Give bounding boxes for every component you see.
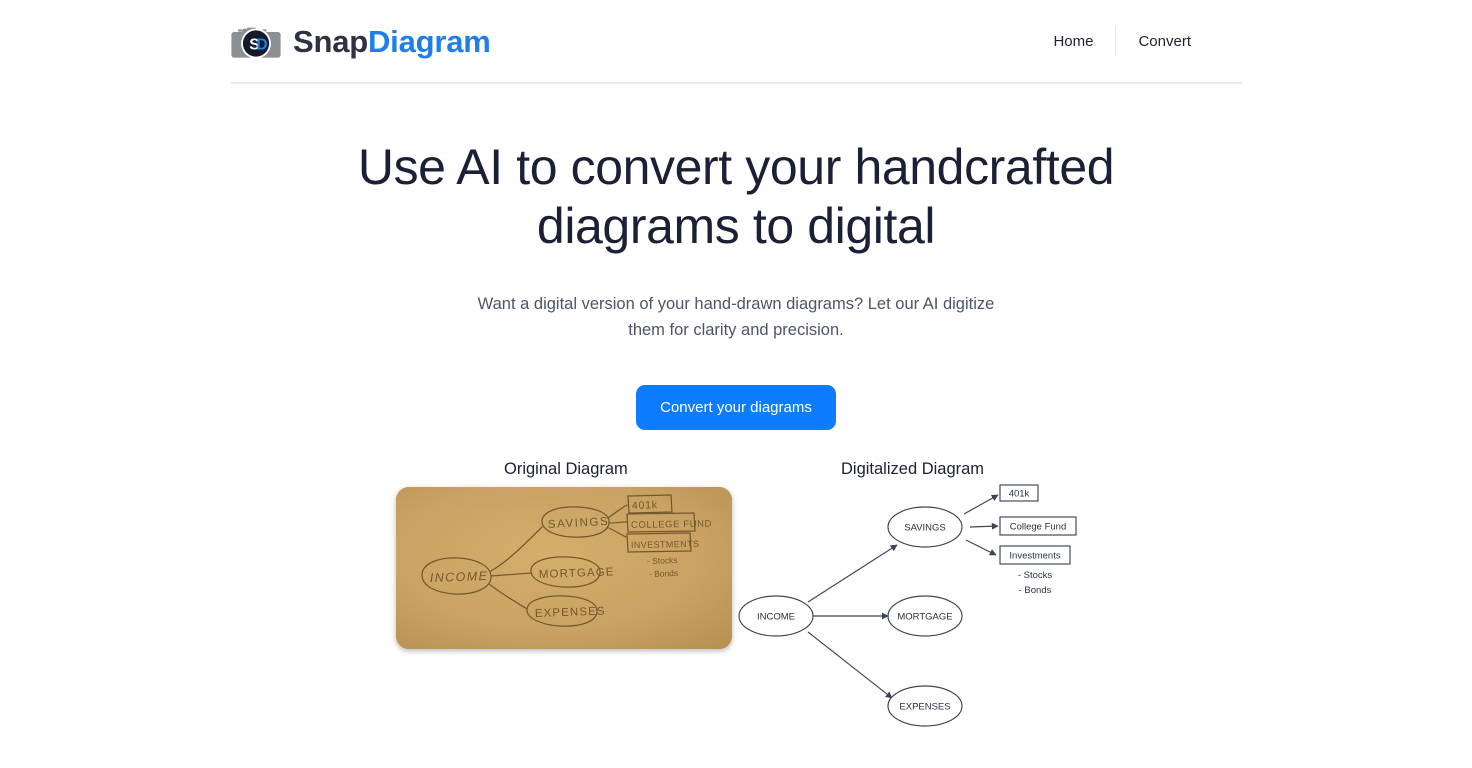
page-subtitle-line-2: them for clarity and precision.	[476, 318, 996, 344]
list-item-stocks: - Stocks	[1018, 570, 1053, 581]
digitalized-diagram-label: Digitalized Diagram	[841, 460, 984, 479]
hero-section: Use AI to convert your handcrafted diagr…	[0, 84, 1472, 430]
nav-item-home[interactable]: Home	[1031, 27, 1115, 56]
photo-label-college-fund: COLLEGE FUND	[631, 519, 712, 531]
page-title: Use AI to convert your handcrafted diagr…	[0, 84, 1472, 256]
nav-item-convert[interactable]: Convert	[1116, 27, 1213, 56]
svg-text:D: D	[256, 36, 267, 53]
box-label-investments: Investments	[1009, 551, 1060, 562]
original-diagram-photo: INCOME SAVINGS MORTGAGE EXPENSES 401k CO…	[396, 487, 732, 649]
camera-logo-icon: S D	[231, 21, 281, 61]
edge-savings-401k	[964, 495, 998, 514]
edge-income-savings	[808, 545, 897, 602]
list-item-bonds: - Bonds	[1019, 585, 1052, 596]
handdrawn-diagram-svg: INCOME SAVINGS MORTGAGE EXPENSES 401k CO…	[396, 487, 732, 649]
page-root: S D SnapDiagram Home Convert Use AI to c…	[0, 0, 1472, 768]
brand-logo-link[interactable]: S D SnapDiagram	[231, 21, 491, 61]
photo-label-income: INCOME	[430, 569, 489, 585]
box-label-college-fund: College Fund	[1010, 522, 1067, 533]
page-title-line-1: Use AI to convert your handcrafted	[0, 138, 1472, 197]
ellipse-label-savings: SAVINGS	[904, 523, 946, 534]
diagram-sub-list: - Stocks - Bonds	[1018, 570, 1053, 596]
main-nav: Home Convert	[1031, 26, 1242, 56]
brand-wordmark: SnapDiagram	[293, 26, 491, 57]
cta-container: Convert your diagrams	[0, 343, 1472, 430]
brand-name-diagram: Diagram	[368, 24, 491, 59]
photo-note-stocks: - Stocks	[647, 555, 678, 566]
ellipse-label-expenses: EXPENSES	[899, 702, 950, 713]
photo-note-bonds: - Bonds	[649, 568, 679, 579]
photo-label-401k: 401k	[632, 499, 658, 512]
original-diagram-label: Original Diagram	[504, 460, 628, 479]
edge-savings-college	[970, 526, 998, 527]
photo-label-expenses: EXPENSES	[535, 606, 606, 620]
page-title-line-2: diagrams to digital	[0, 197, 1472, 256]
ellipse-label-income: INCOME	[757, 612, 795, 623]
photo-label-investments: INVESTMENTS	[631, 539, 700, 550]
page-subtitle-line-1: Want a digital version of your hand-draw…	[476, 292, 996, 318]
site-header: S D SnapDiagram Home Convert	[231, 0, 1242, 84]
digitalized-diagram: INCOME SAVINGS MORTGAGE EXPENSES 401k Co…	[730, 480, 1130, 760]
showcase-section: Original Diagram Digitalized Diagram	[0, 450, 1472, 768]
brand-name-snap: Snap	[293, 24, 368, 59]
edge-income-expenses	[808, 632, 892, 698]
digital-diagram-svg: INCOME SAVINGS MORTGAGE EXPENSES 401k Co…	[730, 480, 1130, 765]
box-label-401k: 401k	[1009, 489, 1030, 500]
convert-your-diagrams-button[interactable]: Convert your diagrams	[636, 385, 836, 430]
edge-savings-investments	[966, 540, 996, 555]
ellipse-label-mortgage: MORTGAGE	[897, 612, 952, 623]
diagram-ellipse-labels: INCOME SAVINGS MORTGAGE EXPENSES	[757, 523, 953, 713]
page-subtitle: Want a digital version of your hand-draw…	[476, 256, 996, 343]
